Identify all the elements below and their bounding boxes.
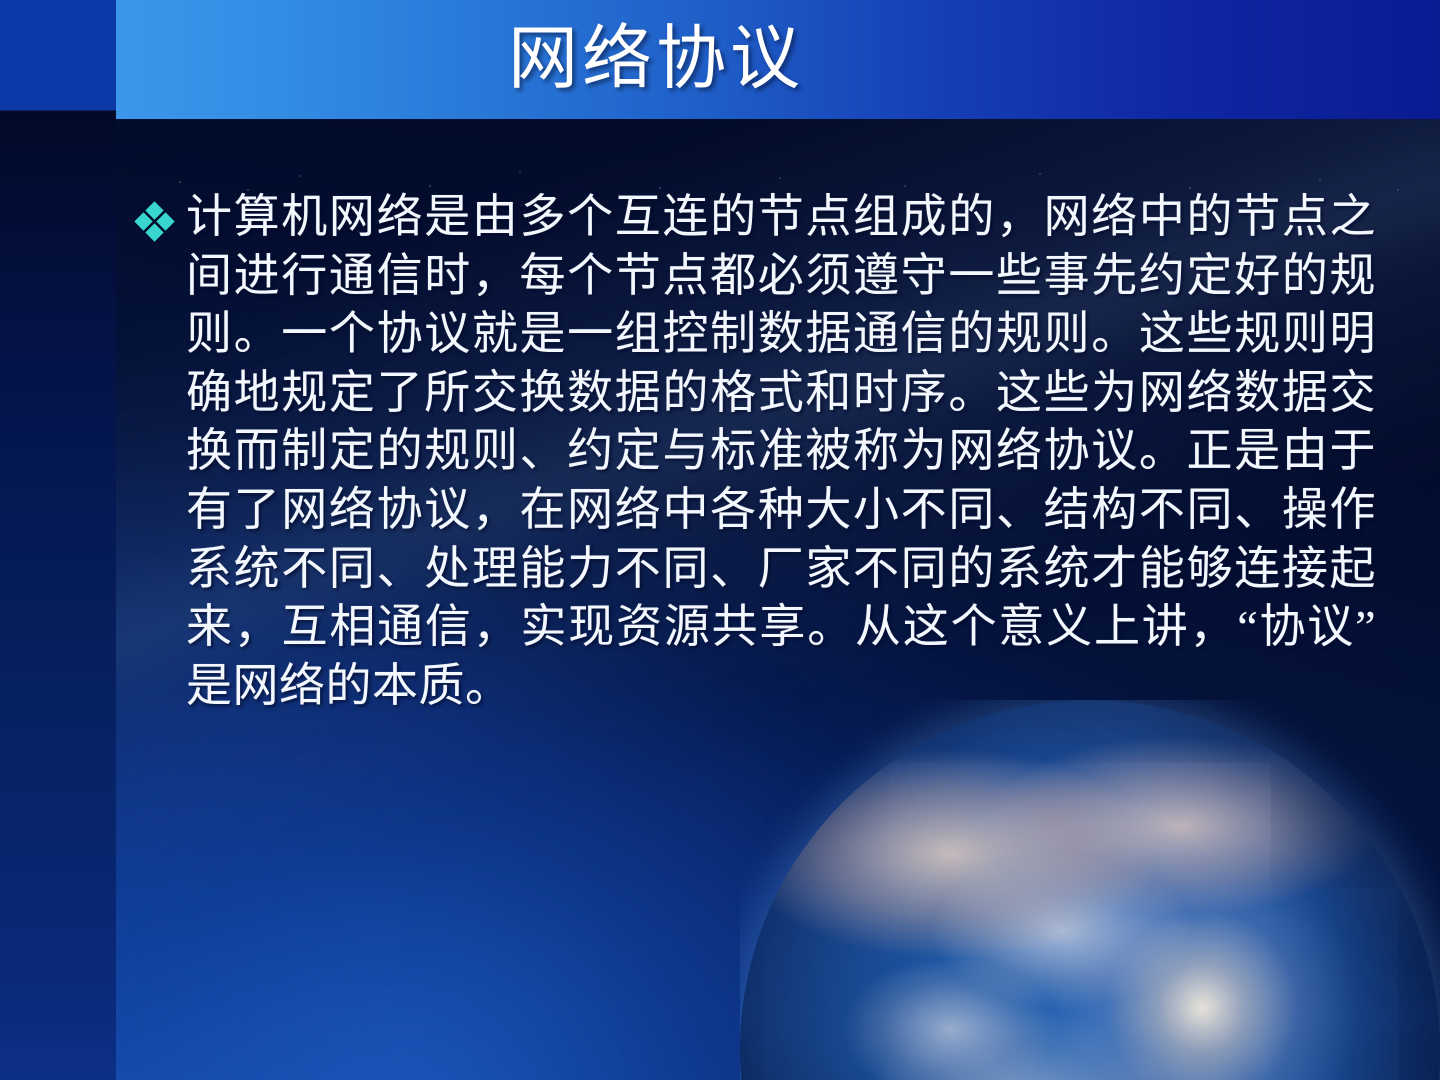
slide-header: 网络协议	[116, 0, 1440, 119]
diamond-cluster-bullet-icon	[136, 204, 174, 242]
left-accent-bar	[0, 0, 116, 1080]
presentation-slide: 网络协议 计算机网络是由多个互连的节点组成的，网络中的节点之间进行通信时，每个节…	[0, 0, 1440, 1080]
slide-body: 计算机网络是由多个互连的节点组成的，网络中的节点之间进行通信时，每个节点都必须遵…	[136, 188, 1386, 715]
page-title: 网络协议	[508, 25, 804, 95]
body-paragraph: 计算机网络是由多个互连的节点组成的，网络中的节点之间进行通信时，每个节点都必须遵…	[186, 188, 1376, 715]
